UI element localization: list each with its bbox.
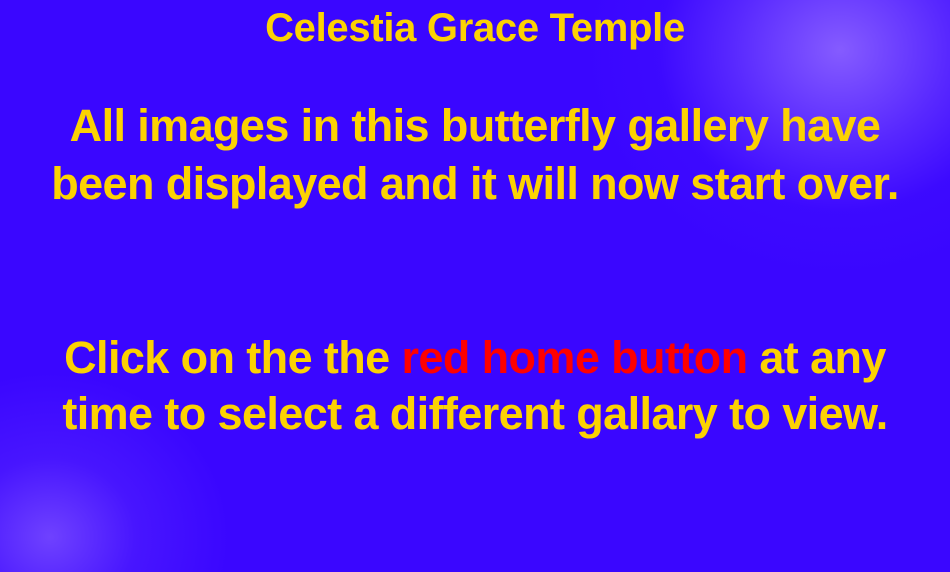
intro-message-line-2: been displayed and it will now start ove… [0,155,950,213]
instruction-text-before: Click on the the [64,332,401,383]
page-title: Celestia Grace Temple [0,6,950,51]
slide-content: Celestia Grace Temple All images in this… [0,0,950,572]
instruction-message-line-2: time to select a different gallary to vi… [0,386,950,442]
slide-canvas: Celestia Grace Temple All images in this… [0,0,950,572]
red-home-button-reference: red home button [402,332,748,383]
instruction-text-after: at any [747,332,885,383]
intro-message: All images in this butterfly gallery hav… [0,97,950,213]
instruction-message-line-1: Click on the the red home button at any [0,330,950,386]
intro-message-line-1: All images in this butterfly gallery hav… [0,97,950,155]
instruction-message: Click on the the red home button at any … [0,330,950,442]
